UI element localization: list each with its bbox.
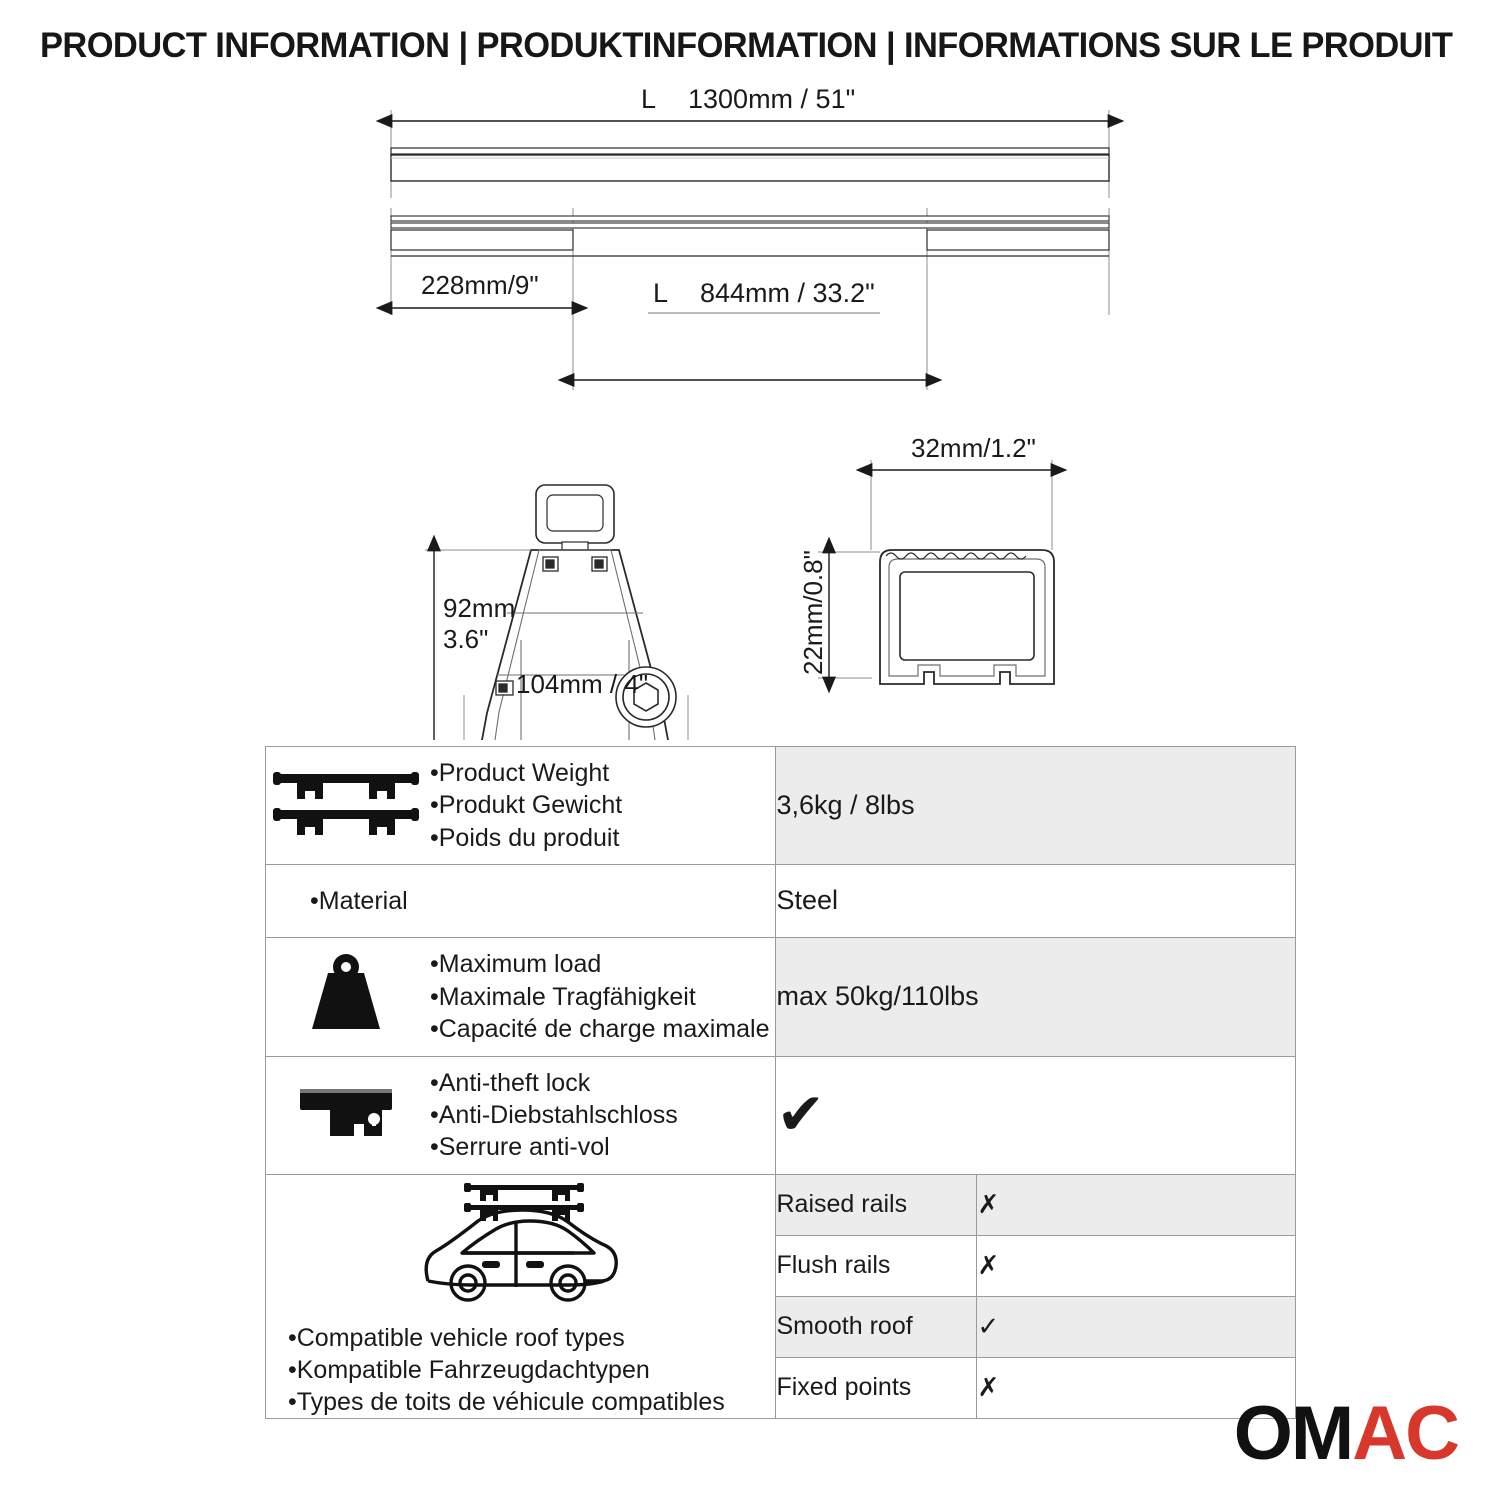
spec-label-line: •Anti-Diebstahlschloss <box>430 1099 769 1131</box>
spec-value-check: ✔ <box>776 1056 1296 1174</box>
spec-label-cell: •Material <box>266 864 776 937</box>
dim-profile-width-text: 32mm/1.2" <box>911 433 1036 463</box>
spec-label-cell: •Product Weight •Produkt Gewicht •Poids … <box>266 747 776 865</box>
spec-table: •Product Weight •Produkt Gewicht •Poids … <box>265 746 1296 1419</box>
dim-length-prefix: L <box>641 84 656 114</box>
dim-length-text: 1300mm / 51" <box>688 84 855 114</box>
spec-label-line: •Maximum load <box>430 948 769 980</box>
dim-foot-offset-text: 228mm/9" <box>421 270 539 300</box>
roof-caption-line: •Kompatible Fahrzeugdachtypen <box>288 1354 775 1386</box>
table-row: •Material Steel <box>266 864 1296 937</box>
crossbars-icon <box>266 766 426 845</box>
dim-profile-height-text: 22mm/0.8" <box>798 550 828 675</box>
spec-label-line: •Poids du produit <box>430 822 769 854</box>
spec-label-text: •Maximum load •Maximale Tragfähigkeit •C… <box>426 938 775 1055</box>
roof-type-name: Smooth roof <box>776 1296 977 1357</box>
table-row: •Product Weight •Produkt Gewicht •Poids … <box>266 747 1296 865</box>
spec-label-line: •Maximale Tragfähigkeit <box>430 981 769 1013</box>
spec-value-cell: Steel <box>776 864 1296 937</box>
table-row: •Maximum load •Maximale Tragfähigkeit •C… <box>266 937 1296 1056</box>
spec-value-cell: max 50kg/110lbs <box>776 937 1296 1056</box>
spec-label-line: •Material <box>310 885 769 917</box>
dim-foot-height-in: 3.6" <box>443 624 488 654</box>
product-information-sheet: PRODUCT INFORMATION | PRODUKTINFORMATION… <box>0 0 1500 1500</box>
spec-label-line: •Produkt Gewicht <box>430 789 769 821</box>
lock-bar-icon <box>266 1081 426 1150</box>
spec-value-cell: 3,6kg / 8lbs <box>776 747 1296 865</box>
dim-span-prefix: L <box>653 278 668 308</box>
spec-label-text: •Product Weight •Produkt Gewicht •Poids … <box>426 747 775 864</box>
spec-label-cell: •Anti-theft lock •Anti-Diebstahlschloss … <box>266 1056 776 1174</box>
roof-caption-line: •Types de toits de véhicule compatibles <box>288 1386 775 1418</box>
dim-foot-width-text: 104mm / 4" <box>516 669 648 699</box>
roof-type-name: Fixed points <box>776 1357 977 1418</box>
spec-label-line: •Capacité de charge maximale <box>430 1013 769 1045</box>
weight-icon <box>266 951 426 1042</box>
dim-span-text: 844mm / 33.2" <box>700 278 875 308</box>
spec-label-line: •Anti-theft lock <box>430 1067 769 1099</box>
roof-type-mark: ✓ <box>977 1296 1296 1357</box>
spec-label-text: •Material <box>266 875 775 927</box>
spec-label-cell: •Maximum load •Maximale Tragfähigkeit •C… <box>266 937 776 1056</box>
technical-drawing: 228mm/9" L 844mm / 33.2" <box>0 80 1500 740</box>
roof-type-name: Flush rails <box>776 1235 977 1296</box>
roof-caption-line: •Compatible vehicle roof types <box>288 1322 775 1354</box>
dim-foot-height-mm: 92mm <box>443 593 515 623</box>
spec-label-text: •Anti-theft lock •Anti-Diebstahlschloss … <box>426 1057 775 1174</box>
spec-label-line: •Serrure anti-vol <box>430 1131 769 1163</box>
roof-types-caption: •Compatible vehicle roof types •Kompatib… <box>266 1322 775 1418</box>
roof-type-mark: ✗ <box>977 1174 1296 1235</box>
table-row-roof-types: •Compatible vehicle roof types •Kompatib… <box>266 1174 1296 1235</box>
table-row: •Anti-theft lock •Anti-Diebstahlschloss … <box>266 1056 1296 1174</box>
roof-types-label-cell: •Compatible vehicle roof types •Kompatib… <box>266 1174 776 1418</box>
roof-type-mark: ✗ <box>977 1235 1296 1296</box>
spec-label-line: •Product Weight <box>430 757 769 789</box>
roof-type-name: Raised rails <box>776 1174 977 1235</box>
car-with-crossbars-icon <box>266 1175 775 1312</box>
page-title: PRODUCT INFORMATION | PRODUKTINFORMATION… <box>40 26 1449 66</box>
logo-text-red: AC <box>1352 1391 1458 1476</box>
logo-text-dark: OM <box>1234 1391 1352 1476</box>
omac-logo: OMAC <box>1234 1396 1458 1472</box>
